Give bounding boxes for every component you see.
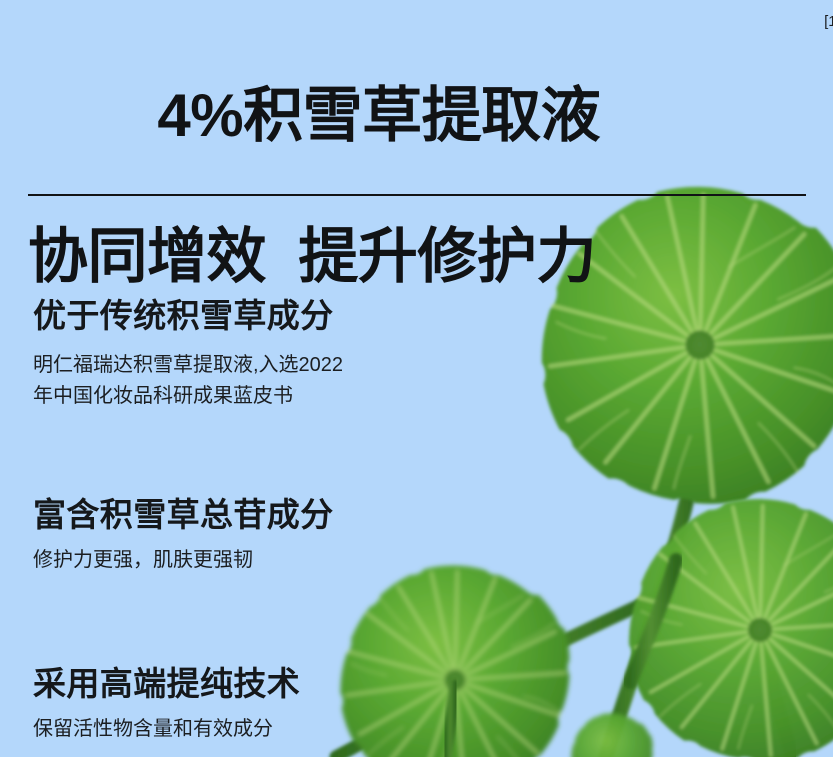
feature-block-1: 优于传统积雪草成分 明仁福瑞达积雪草提取液,入选2022 年中国化妆品科研成果蓝…: [33, 296, 503, 411]
feature-title: 富含积雪草总苷成分: [33, 495, 503, 535]
feature-description: 明仁福瑞达积雪草提取液,入选2022 年中国化妆品科研成果蓝皮书: [33, 350, 503, 411]
feature-title: 采用高端提纯技术: [33, 664, 503, 704]
feature-block-3: 采用高端提纯技术 保留活性物含量和有效成分: [33, 664, 503, 745]
promo-banner: 4%积雪草提取液[11] 协同增效 提升修护力 优于传统积雪草成分 明仁福瑞达积…: [0, 0, 833, 757]
hero-title-line-1: 4%积雪草提取液: [157, 81, 600, 152]
header-divider: [28, 194, 806, 196]
hero-title-line-1-wrap: 4%积雪草提取液[11]: [28, 10, 818, 222]
feature-description: 保留活性物含量和有效成分: [33, 714, 503, 744]
hero-footnote-marker: [11]: [824, 14, 833, 29]
feature-title: 优于传统积雪草成分: [33, 296, 503, 336]
feature-description: 修护力更强，肌肤更强韧: [33, 545, 503, 575]
content-layer: 4%积雪草提取液[11] 协同增效 提升修护力 优于传统积雪草成分 明仁福瑞达积…: [0, 0, 833, 757]
feature-block-2: 富含积雪草总苷成分 修护力更强，肌肤更强韧: [33, 495, 503, 576]
hero-title-line-2: 协同增效 提升修护力: [28, 222, 818, 293]
hero-title: 4%积雪草提取液[11] 协同增效 提升修护力: [28, 10, 818, 293]
